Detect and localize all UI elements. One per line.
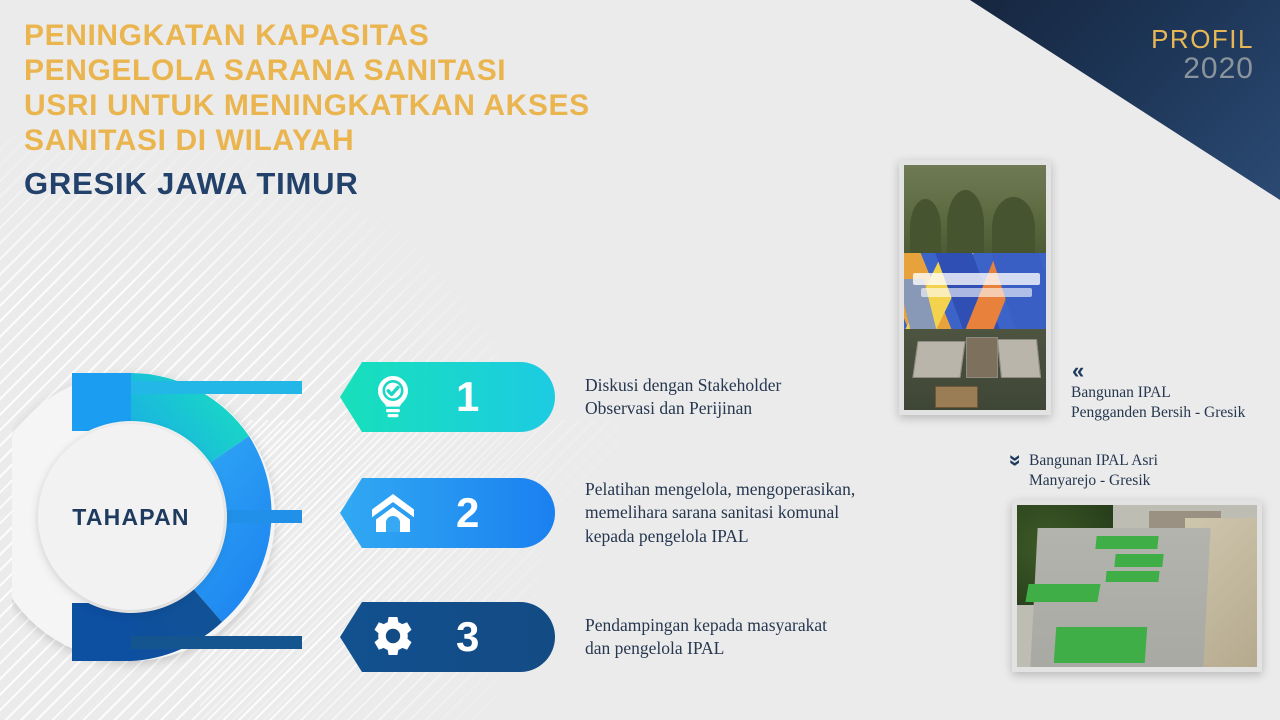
photo-ipal-pengganden	[899, 160, 1051, 415]
grass-tuft	[947, 190, 984, 259]
photo-green-cover	[1105, 571, 1159, 582]
corner-year-label: 2020	[1151, 54, 1254, 84]
gear-icon	[360, 615, 426, 659]
page-title: PENINGKATAN KAPASITAS PENGELOLA SARANA S…	[24, 18, 590, 203]
title-line-2: PENGELOLA SARANA SANITASI	[24, 53, 590, 88]
connector-line-1	[131, 381, 302, 394]
double-chevron-down-icon: «	[1001, 457, 1027, 466]
photo-green-cover	[1096, 536, 1160, 549]
title-line-3: USRI UNTUK MENINGKATKAN AKSES	[24, 88, 590, 123]
photo-green-cover	[1054, 627, 1148, 663]
wheel-center-circle: TAHAPAN	[38, 424, 224, 610]
grass-tuft	[910, 199, 941, 258]
photo-painted-floor	[904, 253, 1046, 329]
photo-ipal-asri	[1012, 500, 1262, 672]
corner-profil-label: PROFIL	[1151, 26, 1254, 52]
step-1-number: 1	[456, 376, 479, 418]
photo-slab	[935, 386, 978, 408]
corner-badge-text: PROFIL 2020	[1151, 26, 1254, 84]
wheel-center-label: TAHAPAN	[72, 504, 189, 531]
step-row-3[interactable]: 3 Pendampingan kepada masyarakat dan pen…	[340, 602, 827, 672]
connector-line-3	[131, 636, 302, 649]
photo-green-cover	[1115, 554, 1164, 567]
step-row-1[interactable]: 1 Diskusi dengan Stakeholder Observasi d…	[340, 362, 781, 432]
home-icon	[360, 492, 426, 534]
tahapan-wheel: TAHAPAN	[12, 340, 302, 690]
photo-2-caption: Bangunan IPAL Asri Manyarejo - Gresik	[1029, 451, 1158, 491]
step-3-description: Pendampingan kepada masyarakat dan penge…	[585, 614, 827, 661]
double-chevron-left-icon: «	[1072, 358, 1081, 384]
step-2-description: Pelatihan mengelola, mengoperasikan, mem…	[585, 478, 855, 548]
lightbulb-check-icon	[360, 374, 426, 420]
photo-slab	[913, 341, 966, 378]
step-2-number: 2	[456, 492, 479, 534]
grass-tuft	[992, 197, 1035, 258]
photo-green-cover	[1025, 584, 1100, 602]
photo-slab	[997, 339, 1041, 378]
step-3-pill[interactable]: 3	[340, 602, 555, 672]
title-line-4: SANITASI DI WILAYAH	[24, 123, 590, 158]
step-row-2[interactable]: 2 Pelatihan mengelola, mengoperasikan, m…	[340, 478, 855, 548]
photo-1-caption: Bangunan IPAL Pengganden Bersih - Gresik	[1071, 383, 1245, 423]
step-1-description: Diskusi dengan Stakeholder Observasi dan…	[585, 374, 781, 421]
step-2-pill[interactable]: 2	[340, 478, 555, 548]
title-location: GRESIK JAWA TIMUR	[24, 165, 590, 202]
step-1-pill[interactable]: 1	[340, 362, 555, 432]
title-line-1: PENINGKATAN KAPASITAS	[24, 18, 590, 53]
step-3-number: 3	[456, 616, 479, 658]
photo-slab	[966, 337, 997, 379]
